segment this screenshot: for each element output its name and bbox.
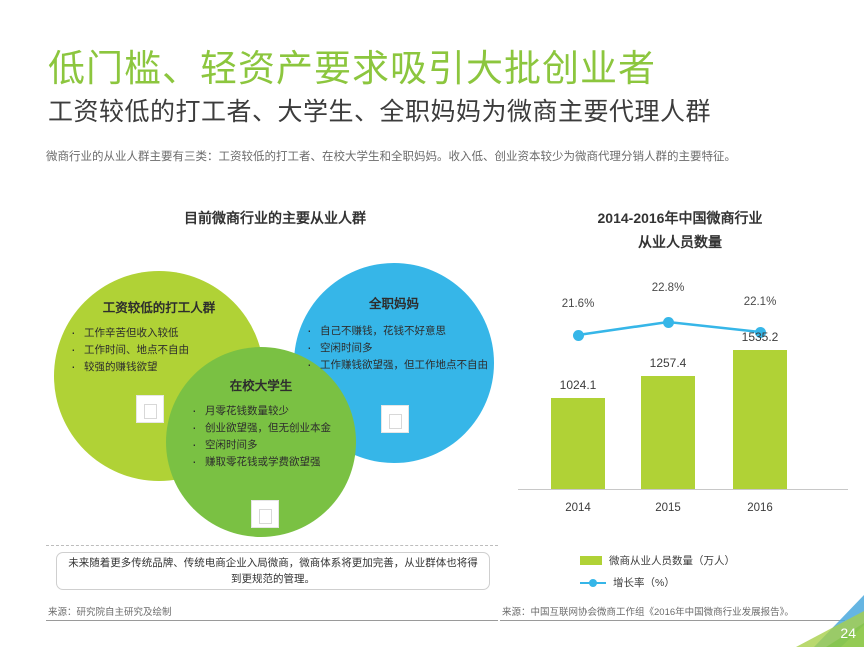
bar-2015: [641, 376, 695, 490]
corner-decoration: 24: [786, 585, 864, 647]
circle-title-full-time-moms: 全职妈妈: [294, 293, 494, 312]
legend-item-bar: 微商从业人员数量（万人）: [580, 553, 735, 568]
note-text: 未来随着更多传统品牌、传统电商企业入局微商，微商体系将更加完善，从业群体也将得到…: [67, 555, 479, 587]
list-item: 工作赚钱欲望强，但工作地点不自由: [304, 357, 490, 374]
legend-item-line: 增长率（%）: [580, 575, 675, 590]
source-left: 来源：研究院自主研究及绘制: [48, 604, 172, 618]
list-item: 空闲时间多: [304, 340, 490, 357]
source-rule-left: [46, 620, 498, 621]
bar-line-chart: 21.6% 22.8% 22.1% 1024.1 1257.4 1535.2 2…: [500, 260, 860, 550]
image-placeholder-3: [251, 500, 279, 528]
image-placeholder-2: [381, 405, 409, 433]
x-tick-2016: 2016: [715, 502, 805, 514]
growth-label-2014: 21.6%: [538, 298, 618, 310]
list-item: 空闲时间多: [189, 437, 359, 454]
circle-bullets-low-wage-workers: 工作辛苦但收入较低 工作时间、地点不自由 较强的赚钱欲望: [68, 325, 258, 376]
line-marker-2014: [573, 330, 584, 341]
page-number: 24: [840, 625, 856, 641]
list-item: 工作辛苦但收入较低: [68, 325, 258, 342]
dashed-divider: [46, 545, 498, 546]
page-title: 低门槛、轻资产要求吸引大批创业者: [48, 38, 656, 92]
source-right: 来源：中国互联网协会微商工作组《2016年中国微商行业发展报告》。: [502, 604, 794, 618]
bar-2014: [551, 398, 605, 490]
list-item: 较强的赚钱欲望: [68, 359, 258, 376]
legend-label-bar: 微商从业人员数量（万人）: [609, 553, 735, 568]
chart-title-line2: 从业人员数量: [500, 232, 860, 252]
page-subtitle: 工资较低的打工者、大学生、全职妈妈为微商主要代理人群: [48, 92, 711, 128]
legend-swatch-line-icon: [580, 578, 606, 587]
list-item: 自己不赚钱，花钱不好意思: [304, 323, 490, 340]
slide-canvas: 低门槛、轻资产要求吸引大批创业者 工资较低的打工者、大学生、全职妈妈为微商主要代…: [0, 0, 864, 647]
legend-label-line: 增长率（%）: [613, 575, 675, 590]
line-marker-2015: [663, 317, 674, 328]
x-tick-2014: 2014: [533, 502, 623, 514]
growth-label-2016: 22.1%: [720, 296, 800, 308]
circle-bullets-college-students: 月零花钱数量较少 创业欲望强，但无创业本金 空闲时间多 赚取零花钱或学费欲望强: [189, 403, 359, 471]
circle-title-low-wage-workers: 工资较低的打工人群: [54, 297, 264, 316]
lead-paragraph: 微商行业的从业人群主要有三类：工资较低的打工者、在校大学生和全职妈妈。收入低、创…: [46, 148, 746, 167]
bar-label-2016: 1535.2: [715, 330, 805, 344]
left-panel-title: 目前微商行业的主要从业人群: [60, 208, 490, 228]
list-item: 创业欲望强，但无创业本金: [189, 420, 359, 437]
circle-bullets-full-time-moms: 自己不赚钱，花钱不好意思 空闲时间多 工作赚钱欲望强，但工作地点不自由: [304, 323, 490, 374]
chart-title-line1: 2014-2016年中国微商行业: [500, 208, 860, 228]
list-item: 工作时间、地点不自由: [68, 342, 258, 359]
venn-diagram: 工资较低的打工人群 工作辛苦但收入较低 工作时间、地点不自由 较强的赚钱欲望 全…: [46, 255, 496, 535]
bar-label-2014: 1024.1: [533, 378, 623, 392]
image-placeholder-1: [136, 395, 164, 423]
legend-swatch-bar-icon: [580, 556, 602, 565]
bar-label-2015: 1257.4: [623, 356, 713, 370]
list-item: 月零花钱数量较少: [189, 403, 359, 420]
circle-title-college-students: 在校大学生: [166, 375, 356, 394]
chart-axis-line: [518, 489, 848, 490]
bar-2016: [733, 350, 787, 490]
x-tick-2015: 2015: [623, 502, 713, 514]
growth-label-2015: 22.8%: [628, 282, 708, 294]
note-box: 未来随着更多传统品牌、传统电商企业入局微商，微商体系将更加完善，从业群体也将得到…: [56, 552, 490, 590]
list-item: 赚取零花钱或学费欲望强: [189, 454, 359, 471]
